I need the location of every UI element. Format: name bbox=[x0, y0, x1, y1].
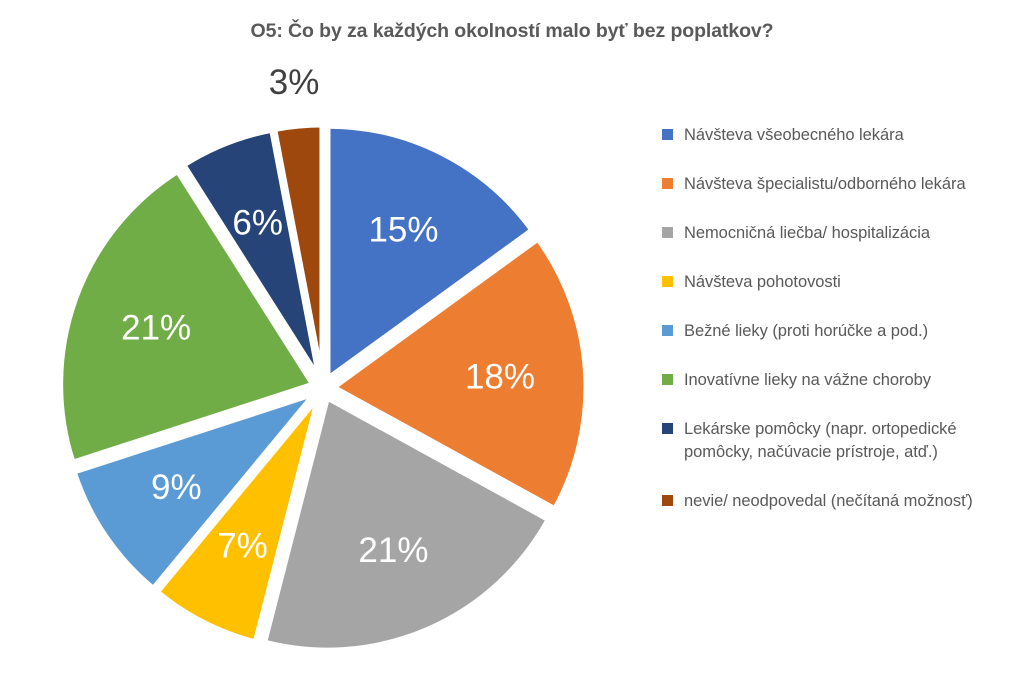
legend-swatch-icon bbox=[662, 374, 673, 385]
legend-swatch-icon bbox=[662, 129, 673, 140]
legend-swatch-icon bbox=[662, 423, 673, 434]
legend-swatch-icon bbox=[662, 227, 673, 238]
legend-item[interactable]: Nemocničná liečba/ hospitalizácia bbox=[662, 222, 1020, 245]
legend-item-label: Inovatívne lieky na vážne choroby bbox=[684, 369, 931, 392]
legend-swatch-icon bbox=[662, 325, 673, 336]
legend-item-label: Lekárske pomôcky (napr. ortopedické pomô… bbox=[684, 418, 1020, 464]
legend-item[interactable]: Inovatívne lieky na vážne choroby bbox=[662, 369, 1020, 392]
pie-slice-label: 7% bbox=[217, 526, 268, 565]
legend-item-label: Nemocničná liečba/ hospitalizácia bbox=[684, 222, 930, 245]
legend-item-label: Návšteva špecialistu/odborného lekára bbox=[684, 173, 966, 196]
pie-slice-label: 21% bbox=[358, 531, 428, 570]
legend-item[interactable]: Návšteva pohotovosti bbox=[662, 271, 1020, 294]
legend-item[interactable]: Návšteva špecialistu/odborného lekára bbox=[662, 173, 1020, 196]
legend-item[interactable]: Návšteva všeobecného lekára bbox=[662, 124, 1020, 147]
chart-title: O5: Čo by za každých okolností malo byť … bbox=[0, 20, 1024, 43]
legend-swatch-icon bbox=[662, 276, 673, 287]
legend-item-label: Bežné lieky (proti horúčke a pod.) bbox=[684, 320, 928, 343]
pie-slice-label: 15% bbox=[368, 211, 438, 250]
legend-item-label: nevie/ neodpovedal (nečítaná možnosť) bbox=[684, 490, 973, 513]
pie-chart: 15%18%21%7%9%21%6%3% bbox=[18, 60, 638, 680]
pie-slice-label: 21% bbox=[121, 308, 191, 347]
legend-swatch-icon bbox=[662, 495, 673, 506]
legend-item[interactable]: nevie/ neodpovedal (nečítaná možnosť) bbox=[662, 490, 1020, 513]
legend-item-label: Návšteva pohotovosti bbox=[684, 271, 841, 294]
legend-swatch-icon bbox=[662, 178, 673, 189]
pie-slice-label: 3% bbox=[269, 63, 320, 102]
legend-item-label: Návšteva všeobecného lekára bbox=[684, 124, 904, 147]
pie-slice-label: 6% bbox=[232, 204, 283, 243]
chart-legend: Návšteva všeobecného lekáraNávšteva špec… bbox=[662, 124, 1020, 539]
legend-item[interactable]: Bežné lieky (proti horúčke a pod.) bbox=[662, 320, 1020, 343]
legend-item[interactable]: Lekárske pomôcky (napr. ortopedické pomô… bbox=[662, 418, 1020, 464]
pie-chart-svg: 15%18%21%7%9%21%6%3% bbox=[18, 60, 638, 680]
pie-slice-label: 18% bbox=[465, 357, 535, 396]
pie-slice-label: 9% bbox=[151, 468, 202, 507]
